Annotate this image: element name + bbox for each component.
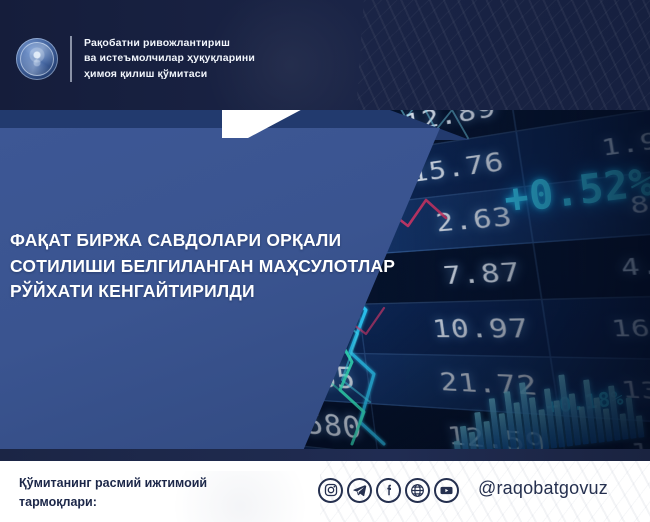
ticker-cell: 10.97 [359,300,551,356]
telegram-icon[interactable] [347,478,372,503]
organization-name: Рақобатни ривожлантириш ва истеъмолчилар… [84,36,255,82]
brand-divider [70,36,72,82]
youtube-icon[interactable] [434,478,459,503]
social-links [318,472,459,508]
website-globe-icon[interactable] [405,478,430,503]
ticker-cell: 16.84 [543,295,650,359]
instagram-icon[interactable] [318,478,343,503]
header-watermark-pattern [351,0,650,110]
facebook-icon[interactable] [376,478,401,503]
uzbekistan-state-emblem-icon [16,38,58,80]
page-title: ФАҚАТ БИРЖА САВДОЛАРИ ОРҚАЛИ СОТИЛИШИ БЕ… [10,228,410,305]
header-bar: Рақобатни ривожлантириш ва истеъмолчилар… [0,0,650,110]
footer-label: Қўмитанинг расмий ижтимоий тармоқлари: [19,474,207,512]
footer-divider-strip [0,449,650,461]
social-handle[interactable]: @raqobatgovuz [478,478,608,499]
brand-lockup: Рақобатни ривожлантириш ва истеъмолчилар… [16,36,255,82]
social-media-poster: 26735.1514.863.2517.1315.6912.285.384.45… [0,0,650,522]
